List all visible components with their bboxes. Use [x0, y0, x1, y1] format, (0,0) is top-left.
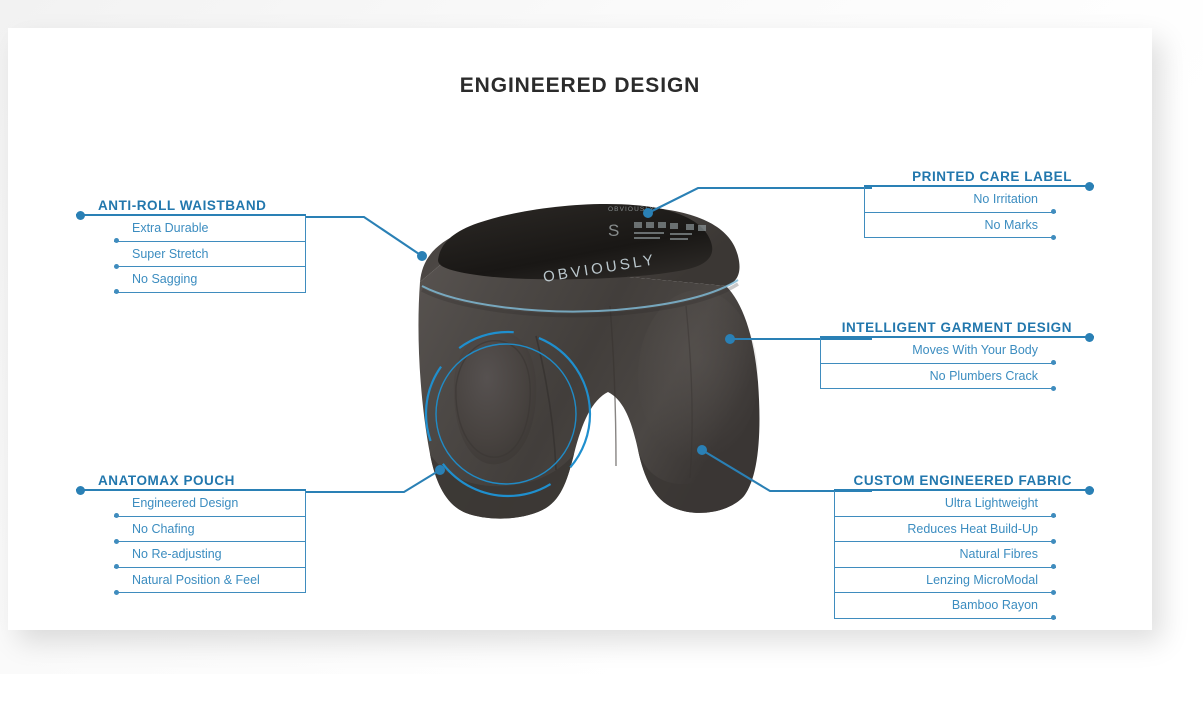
- list-item-label: Super Stretch: [132, 247, 208, 261]
- list-item-label: Moves With Your Body: [912, 343, 1038, 357]
- list-item[interactable]: Reduces Heat Build-Up: [834, 517, 1056, 543]
- list-item[interactable]: Bamboo Rayon: [834, 593, 1056, 619]
- list-item-label: Natural Fibres: [960, 547, 1039, 561]
- callout-heading: CUSTOM ENGINEERED FABRIC: [834, 473, 1094, 491]
- callout-heading-text: ANATOMAX POUCH: [98, 473, 235, 488]
- list-item[interactable]: No Marks: [864, 213, 1056, 239]
- callout-items: Engineered Design No Chafing No Re-adjus…: [114, 491, 306, 593]
- list-item[interactable]: Natural Position & Feel: [114, 568, 306, 594]
- list-item[interactable]: No Sagging: [114, 267, 306, 293]
- list-item[interactable]: Engineered Design: [114, 491, 306, 517]
- list-item[interactable]: Extra Durable: [114, 216, 306, 242]
- list-item[interactable]: Ultra Lightweight: [834, 491, 1056, 517]
- list-item[interactable]: No Irritation: [864, 187, 1056, 213]
- callout-heading: ANTI-ROLL WAISTBAND: [76, 198, 306, 216]
- heading-dot: [1085, 182, 1094, 191]
- hip-highlight: [638, 290, 758, 462]
- callout-items: Extra Durable Super Stretch No Sagging: [114, 216, 306, 293]
- list-item[interactable]: No Re-adjusting: [114, 542, 306, 568]
- heading-dot: [76, 211, 85, 220]
- list-item-label: No Chafing: [132, 522, 195, 536]
- callout-anti-roll-waistband: ANTI-ROLL WAISTBAND Extra Durable Super …: [76, 198, 306, 293]
- callout-custom-engineered-fabric: CUSTOM ENGINEERED FABRIC Ultra Lightweig…: [834, 473, 1094, 619]
- list-item-label: Engineered Design: [132, 496, 238, 510]
- list-item[interactable]: Moves With Your Body: [820, 338, 1056, 364]
- list-item-label: No Plumbers Crack: [930, 369, 1038, 383]
- callout-items: Ultra Lightweight Reduces Heat Build-Up …: [834, 491, 1056, 619]
- list-item-label: Bamboo Rayon: [952, 598, 1038, 612]
- page-title: ENGINEERED DESIGN: [8, 74, 1152, 98]
- list-item-dot: [114, 590, 119, 595]
- list-item-label: Lenzing MicroModal: [926, 573, 1038, 587]
- list-item-label: No Sagging: [132, 272, 197, 286]
- callout-heading: ANATOMAX POUCH: [76, 473, 306, 491]
- list-item[interactable]: Natural Fibres: [834, 542, 1056, 568]
- list-item-label: Reduces Heat Build-Up: [907, 522, 1038, 536]
- list-item[interactable]: Lenzing MicroModal: [834, 568, 1056, 594]
- list-item-label: Extra Durable: [132, 221, 208, 235]
- callout-heading-text: INTELLIGENT GARMENT DESIGN: [842, 320, 1072, 335]
- infographic-card: ENGINEERED DESIGN: [8, 28, 1152, 630]
- list-item-dot: [1051, 386, 1056, 391]
- callout-items: No Irritation No Marks: [864, 187, 1056, 238]
- list-item-label: No Marks: [985, 218, 1038, 232]
- list-item[interactable]: No Chafing: [114, 517, 306, 543]
- heading-dot: [1085, 486, 1094, 495]
- callout-heading: INTELLIGENT GARMENT DESIGN: [820, 320, 1094, 338]
- callout-printed-care-label: PRINTED CARE LABEL No Irritation No Mark…: [864, 169, 1094, 238]
- list-item[interactable]: Super Stretch: [114, 242, 306, 268]
- list-item-label: Ultra Lightweight: [945, 496, 1038, 510]
- callout-heading: PRINTED CARE LABEL: [864, 169, 1094, 187]
- callout-heading-text: ANTI-ROLL WAISTBAND: [98, 198, 266, 213]
- list-item-dot: [114, 289, 119, 294]
- list-item-label: No Re-adjusting: [132, 547, 222, 561]
- callout-items: Moves With Your Body No Plumbers Crack: [820, 338, 1056, 389]
- heading-dot: [76, 486, 85, 495]
- list-item-label: Natural Position & Feel: [132, 573, 260, 587]
- callout-anatomax-pouch: ANATOMAX POUCH Engineered Design No Chaf…: [76, 473, 306, 593]
- list-item[interactable]: No Plumbers Crack: [820, 364, 1056, 390]
- callout-heading-text: CUSTOM ENGINEERED FABRIC: [854, 473, 1072, 488]
- list-item-dot: [1051, 615, 1056, 620]
- list-item-label: No Irritation: [973, 192, 1038, 206]
- care-label-brand: OBVIOUSLY: [608, 206, 655, 213]
- product-image-boxer-brief: OBVIOUSLY OBVIOUSLY S: [386, 186, 772, 538]
- callout-heading-text: PRINTED CARE LABEL: [912, 169, 1072, 184]
- heading-dot: [1085, 333, 1094, 342]
- callout-intelligent-garment-design: INTELLIGENT GARMENT DESIGN Moves With Yo…: [820, 320, 1094, 389]
- care-label-size: S: [608, 221, 619, 240]
- list-item-dot: [1051, 235, 1056, 240]
